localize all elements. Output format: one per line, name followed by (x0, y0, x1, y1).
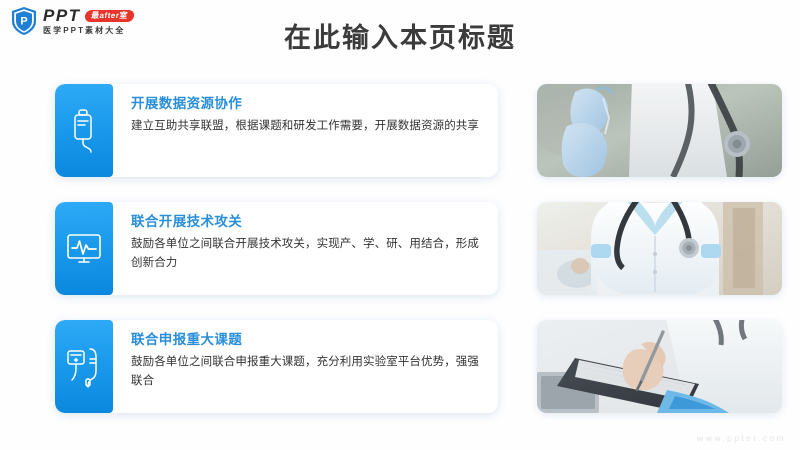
card-title: 开展数据资源协作 (131, 96, 482, 112)
info-card[interactable]: 联合申报重大课题 鼓励各单位之间联合申报重大课题，充分利用实验室平台优势，强强联… (55, 320, 498, 413)
card-icon-panel (55, 84, 113, 177)
card-body: 联合申报重大课题 鼓励各单位之间联合申报重大课题，充分利用实验室平台优势，强强联… (113, 320, 498, 413)
card-body: 开展数据资源协作 建立互助共享联盟，根据课题和研发工作需要，开展数据资源的共享 (113, 84, 498, 177)
card-icon-panel (55, 202, 113, 295)
slide-canvas: P PPT 最after室 医学PPT素材大全 在此输入本页标题 (0, 0, 800, 450)
card-icon-panel (55, 320, 113, 413)
card-description: 建立互助共享联盟，根据课题和研发工作需要，开展数据资源的共享 (131, 117, 482, 136)
info-card[interactable]: 联合开展技术攻关 鼓励各单位之间联合开展技术攻关，实现产、学、研、用结合，形成创… (55, 202, 498, 295)
content-row: 开展数据资源协作 建立互助共享联盟，根据课题和研发工作需要，开展数据资源的共享 (55, 84, 782, 177)
iv-drip-icon (67, 107, 101, 155)
infusion-pump-icon (64, 345, 104, 389)
page-title: 在此输入本页标题 (0, 16, 800, 55)
content-row: 联合开展技术攻关 鼓励各单位之间联合开展技术攻关，实现产、学、研、用结合，形成创… (55, 202, 782, 295)
card-title: 联合开展技术攻关 (131, 214, 482, 230)
card-description: 鼓励各单位之间联合申报重大课题，充分利用实验室平台优势，强强联合 (131, 353, 482, 390)
content-row: 联合申报重大课题 鼓励各单位之间联合申报重大课题，充分利用实验室平台优势，强强联… (55, 320, 782, 413)
card-description: 鼓励各单位之间联合开展技术攻关，实现产、学、研、用结合，形成创新合力 (131, 235, 482, 272)
info-card[interactable]: 开展数据资源协作 建立互助共享联盟，根据课题和研发工作需要，开展数据资源的共享 (55, 84, 498, 177)
card-body: 联合开展技术攻关 鼓励各单位之间联合开展技术攻关，实现产、学、研、用结合，形成创… (113, 202, 498, 295)
doctor-blue-gloves-stethoscope-photo (537, 84, 782, 177)
doctor-writing-clipboard-laptop-photo (537, 320, 782, 413)
nurse-white-uniform-stethoscope-photo (537, 202, 782, 295)
card-title: 联合申报重大课题 (131, 332, 482, 348)
watermark: www.ppter.com (697, 433, 786, 443)
content-rows: 开展数据资源协作 建立互助共享联盟，根据课题和研发工作需要，开展数据资源的共享 (55, 84, 782, 438)
ecg-monitor-icon (65, 232, 103, 266)
